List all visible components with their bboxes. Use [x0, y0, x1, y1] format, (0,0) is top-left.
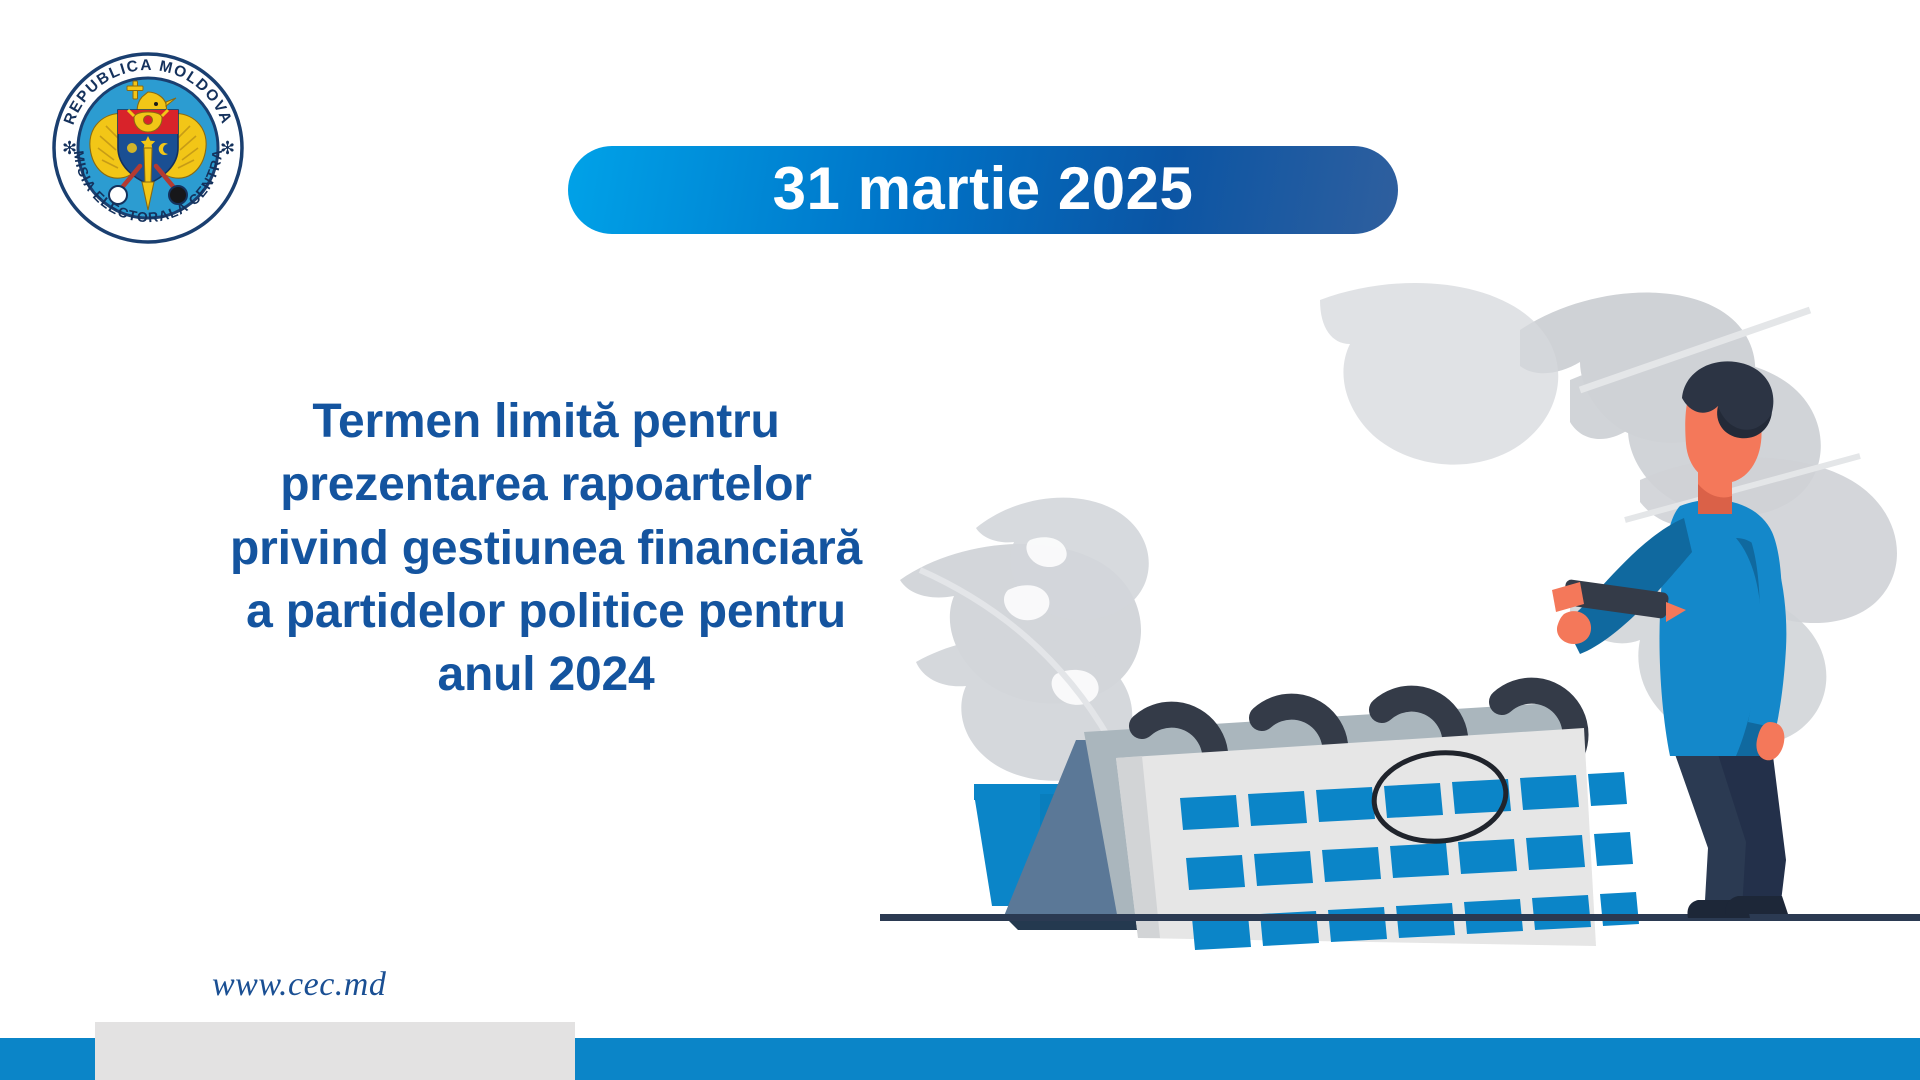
calendar-illustration [880, 270, 1920, 950]
date-banner-label: 31 martie 2025 [773, 159, 1194, 222]
footer-gray-block [95, 1022, 575, 1080]
cec-moldova-emblem-logo: REPUBLICA MOLDOVA COMISIA ELECTORALĂ CEN… [48, 48, 248, 248]
website-url: www.cec.md [212, 966, 386, 1004]
page-title: Termen limită pentru prezentarea rapoart… [96, 390, 996, 707]
date-banner: 31 martie 2025 [568, 146, 1398, 234]
headline-line-4: a partidelor politice pentru [96, 580, 996, 643]
ground-line [880, 914, 1920, 921]
monstera-leaf-behind-calendar [1320, 283, 1558, 465]
headline-line-1: Termen limită pentru [96, 390, 996, 453]
poster-canvas: REPUBLICA MOLDOVA COMISIA ELECTORALĂ CEN… [0, 0, 1920, 1080]
headline-line-2: prezentarea rapoartelor [96, 453, 996, 516]
headline-line-3: privind gestiunea financiară [96, 517, 996, 580]
svg-text:✻: ✻ [220, 138, 235, 158]
headline-line-5: anul 2024 [96, 643, 996, 706]
svg-text:✻: ✻ [62, 138, 77, 158]
